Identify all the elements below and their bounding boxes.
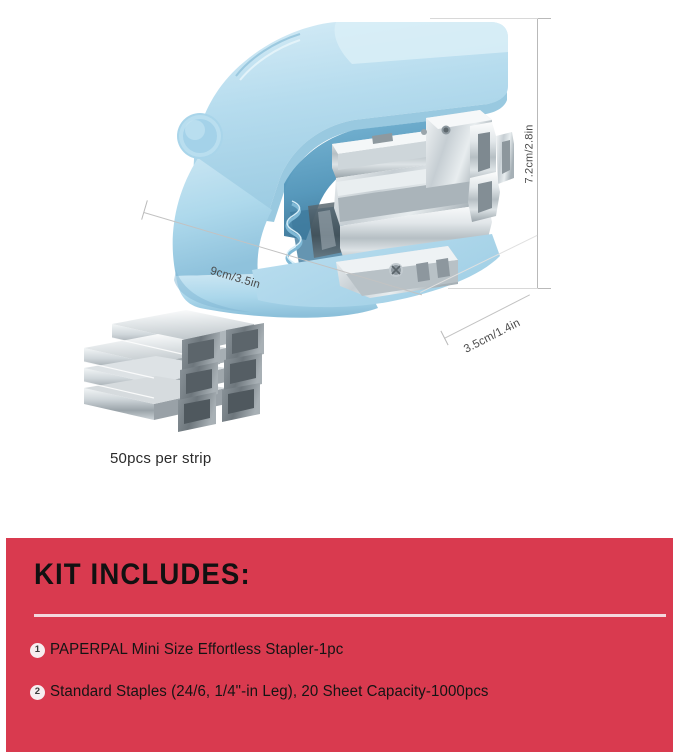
kit-title-divider — [34, 614, 666, 617]
stapler-product-image — [140, 8, 530, 328]
kit-includes-banner: KIT INCLUDES: 1 PAPERPAL Mini Size Effor… — [6, 538, 673, 752]
bullet-number-icon: 2 — [30, 685, 45, 700]
height-leader-top — [430, 18, 538, 19]
bullet-number-icon: 1 — [30, 643, 45, 658]
kit-includes-title: KIT INCLUDES: — [34, 558, 251, 592]
product-hero-area: 50pcs per strip 7.2cm/2.8in 9cm/3.5in 3.… — [0, 0, 679, 538]
list-item: 2 Standard Staples (24/6, 1/4"-in Leg), … — [30, 683, 502, 701]
height-dimension-label: 7.2cm/2.8in — [524, 124, 536, 183]
height-leader-bottom — [448, 288, 538, 289]
kit-item-label: PAPERPAL Mini Size Effortless Stapler-1p… — [50, 641, 343, 659]
stapler-side-button — [177, 113, 223, 159]
height-dimension-line — [537, 18, 538, 288]
kit-item-label: Standard Staples (24/6, 1/4"-in Leg), 20… — [50, 683, 489, 701]
staple-strips-image — [78, 306, 288, 441]
staples-caption: 50pcs per strip — [110, 450, 211, 467]
list-item: 1 PAPERPAL Mini Size Effortless Stapler-… — [30, 641, 352, 659]
depth-tick — [440, 331, 448, 346]
